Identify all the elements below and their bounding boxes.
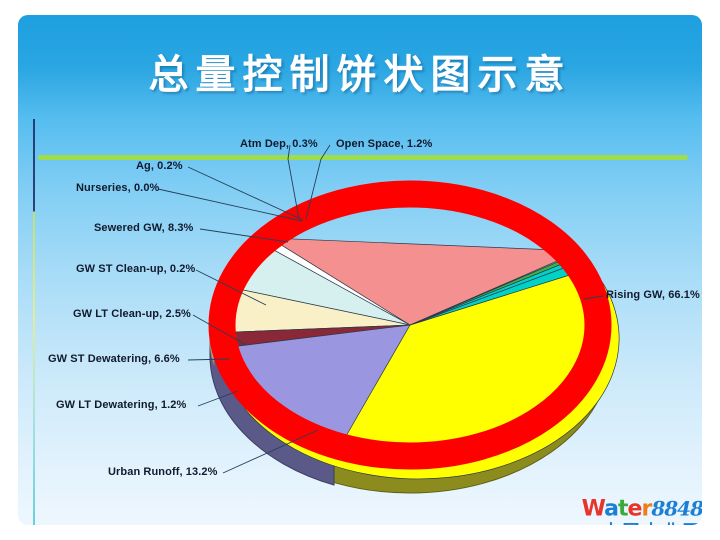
watermark-chinese: 中国水业网: [580, 521, 702, 525]
label-nurseries: Nurseries, 0.0%: [76, 182, 159, 194]
page-title: 总量控制饼状图示意: [18, 53, 702, 97]
label-ag: Ag, 0.2%: [136, 160, 183, 172]
watermark-t: t: [618, 496, 628, 521]
label-gw-st-cleanup: GW ST Clean-up, 0.2%: [76, 263, 195, 275]
label-gw-lt-cleanup: GW LT Clean-up, 2.5%: [73, 308, 191, 320]
label-rising-gw: Rising GW, 66.1%: [606, 289, 700, 301]
label-gw-lt-dewatering: GW LT Dewatering, 1.2%: [56, 399, 186, 411]
watermark-w: W: [582, 496, 604, 521]
label-atm-dep: Atm Dep, 0.3%: [240, 138, 318, 150]
watermark-brand: Water8848.com: [580, 493, 702, 521]
label-open-space: Open Space, 1.2%: [336, 138, 432, 150]
label-urban-runoff: Urban Runoff, 13.2%: [108, 466, 217, 478]
pie-chart-svg: [18, 119, 702, 525]
slide-panel: 总量控制饼状图示意: [18, 15, 702, 525]
label-sewered-gw: Sewered GW, 8.3%: [94, 222, 193, 234]
label-gw-st-dewatering: GW ST Dewatering, 6.6%: [48, 353, 180, 365]
watermark-a: a: [604, 496, 618, 521]
title-band: 总量控制饼状图示意: [18, 15, 702, 119]
pie-chart: Atm Dep, 0.3% Open Space, 1.2% Ag, 0.2% …: [18, 119, 702, 525]
watermark-e: e: [628, 496, 642, 521]
watermark-r: r: [641, 496, 651, 521]
watermark: Water8848.com 中国水业网: [580, 493, 702, 525]
slide: 总量控制饼状图示意: [0, 0, 720, 540]
watermark-number: 8848: [651, 496, 702, 520]
